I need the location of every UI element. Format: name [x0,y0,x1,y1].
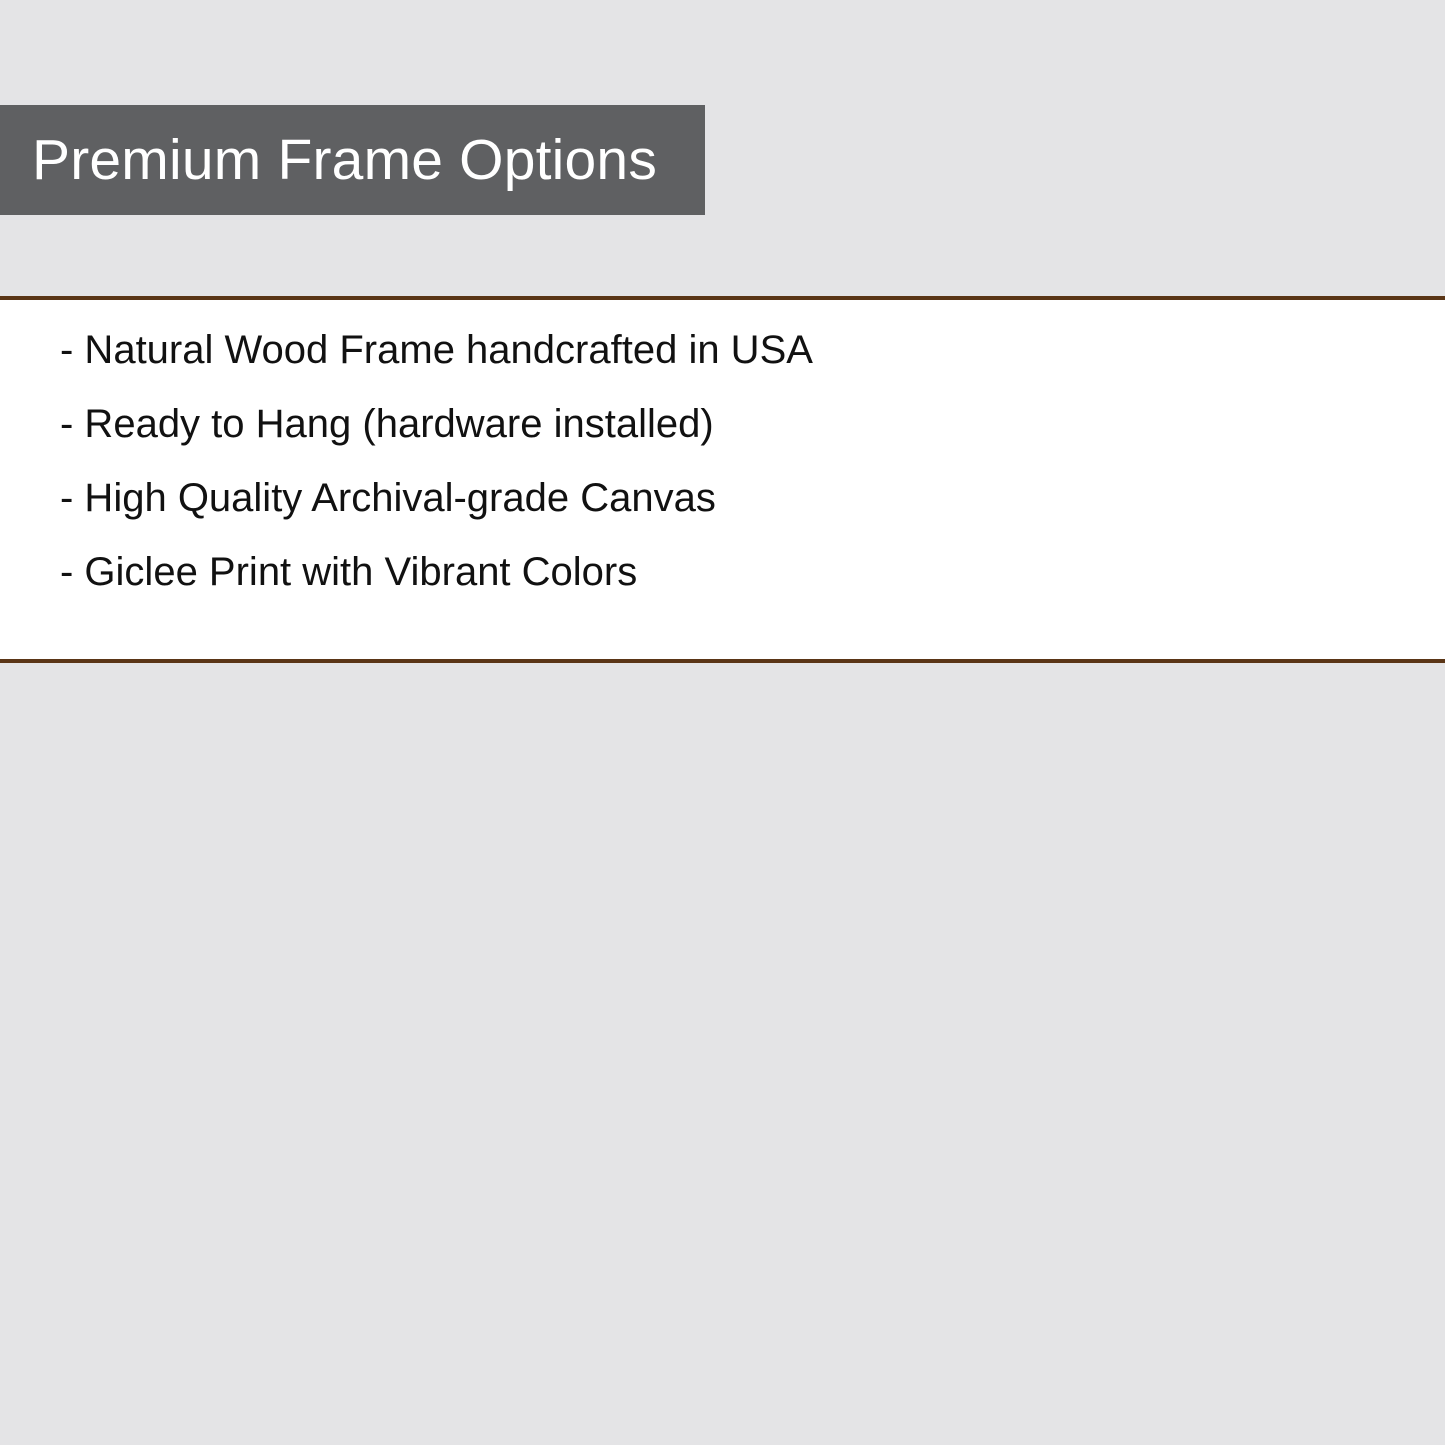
title-banner: Premium Frame Options [0,105,705,215]
list-item: - Natural Wood Frame handcrafted in USA [60,330,1425,370]
header-zone: Premium Frame Options [0,0,1445,296]
product-infographic: Premium Frame Options - Natural Wood Fra… [0,0,1445,1445]
list-item: - High Quality Archival-grade Canvas [60,478,1425,518]
features-list: - Natural Wood Frame handcrafted in USA … [60,330,1425,592]
list-item: - Giclee Print with Vibrant Colors [60,552,1425,592]
list-item: - Ready to Hang (hardware installed) [60,404,1425,444]
page-title: Premium Frame Options [0,132,657,189]
frame-gallery: White Black Silver [0,663,1445,1445]
features-panel: - Natural Wood Frame handcrafted in USA … [0,296,1445,663]
